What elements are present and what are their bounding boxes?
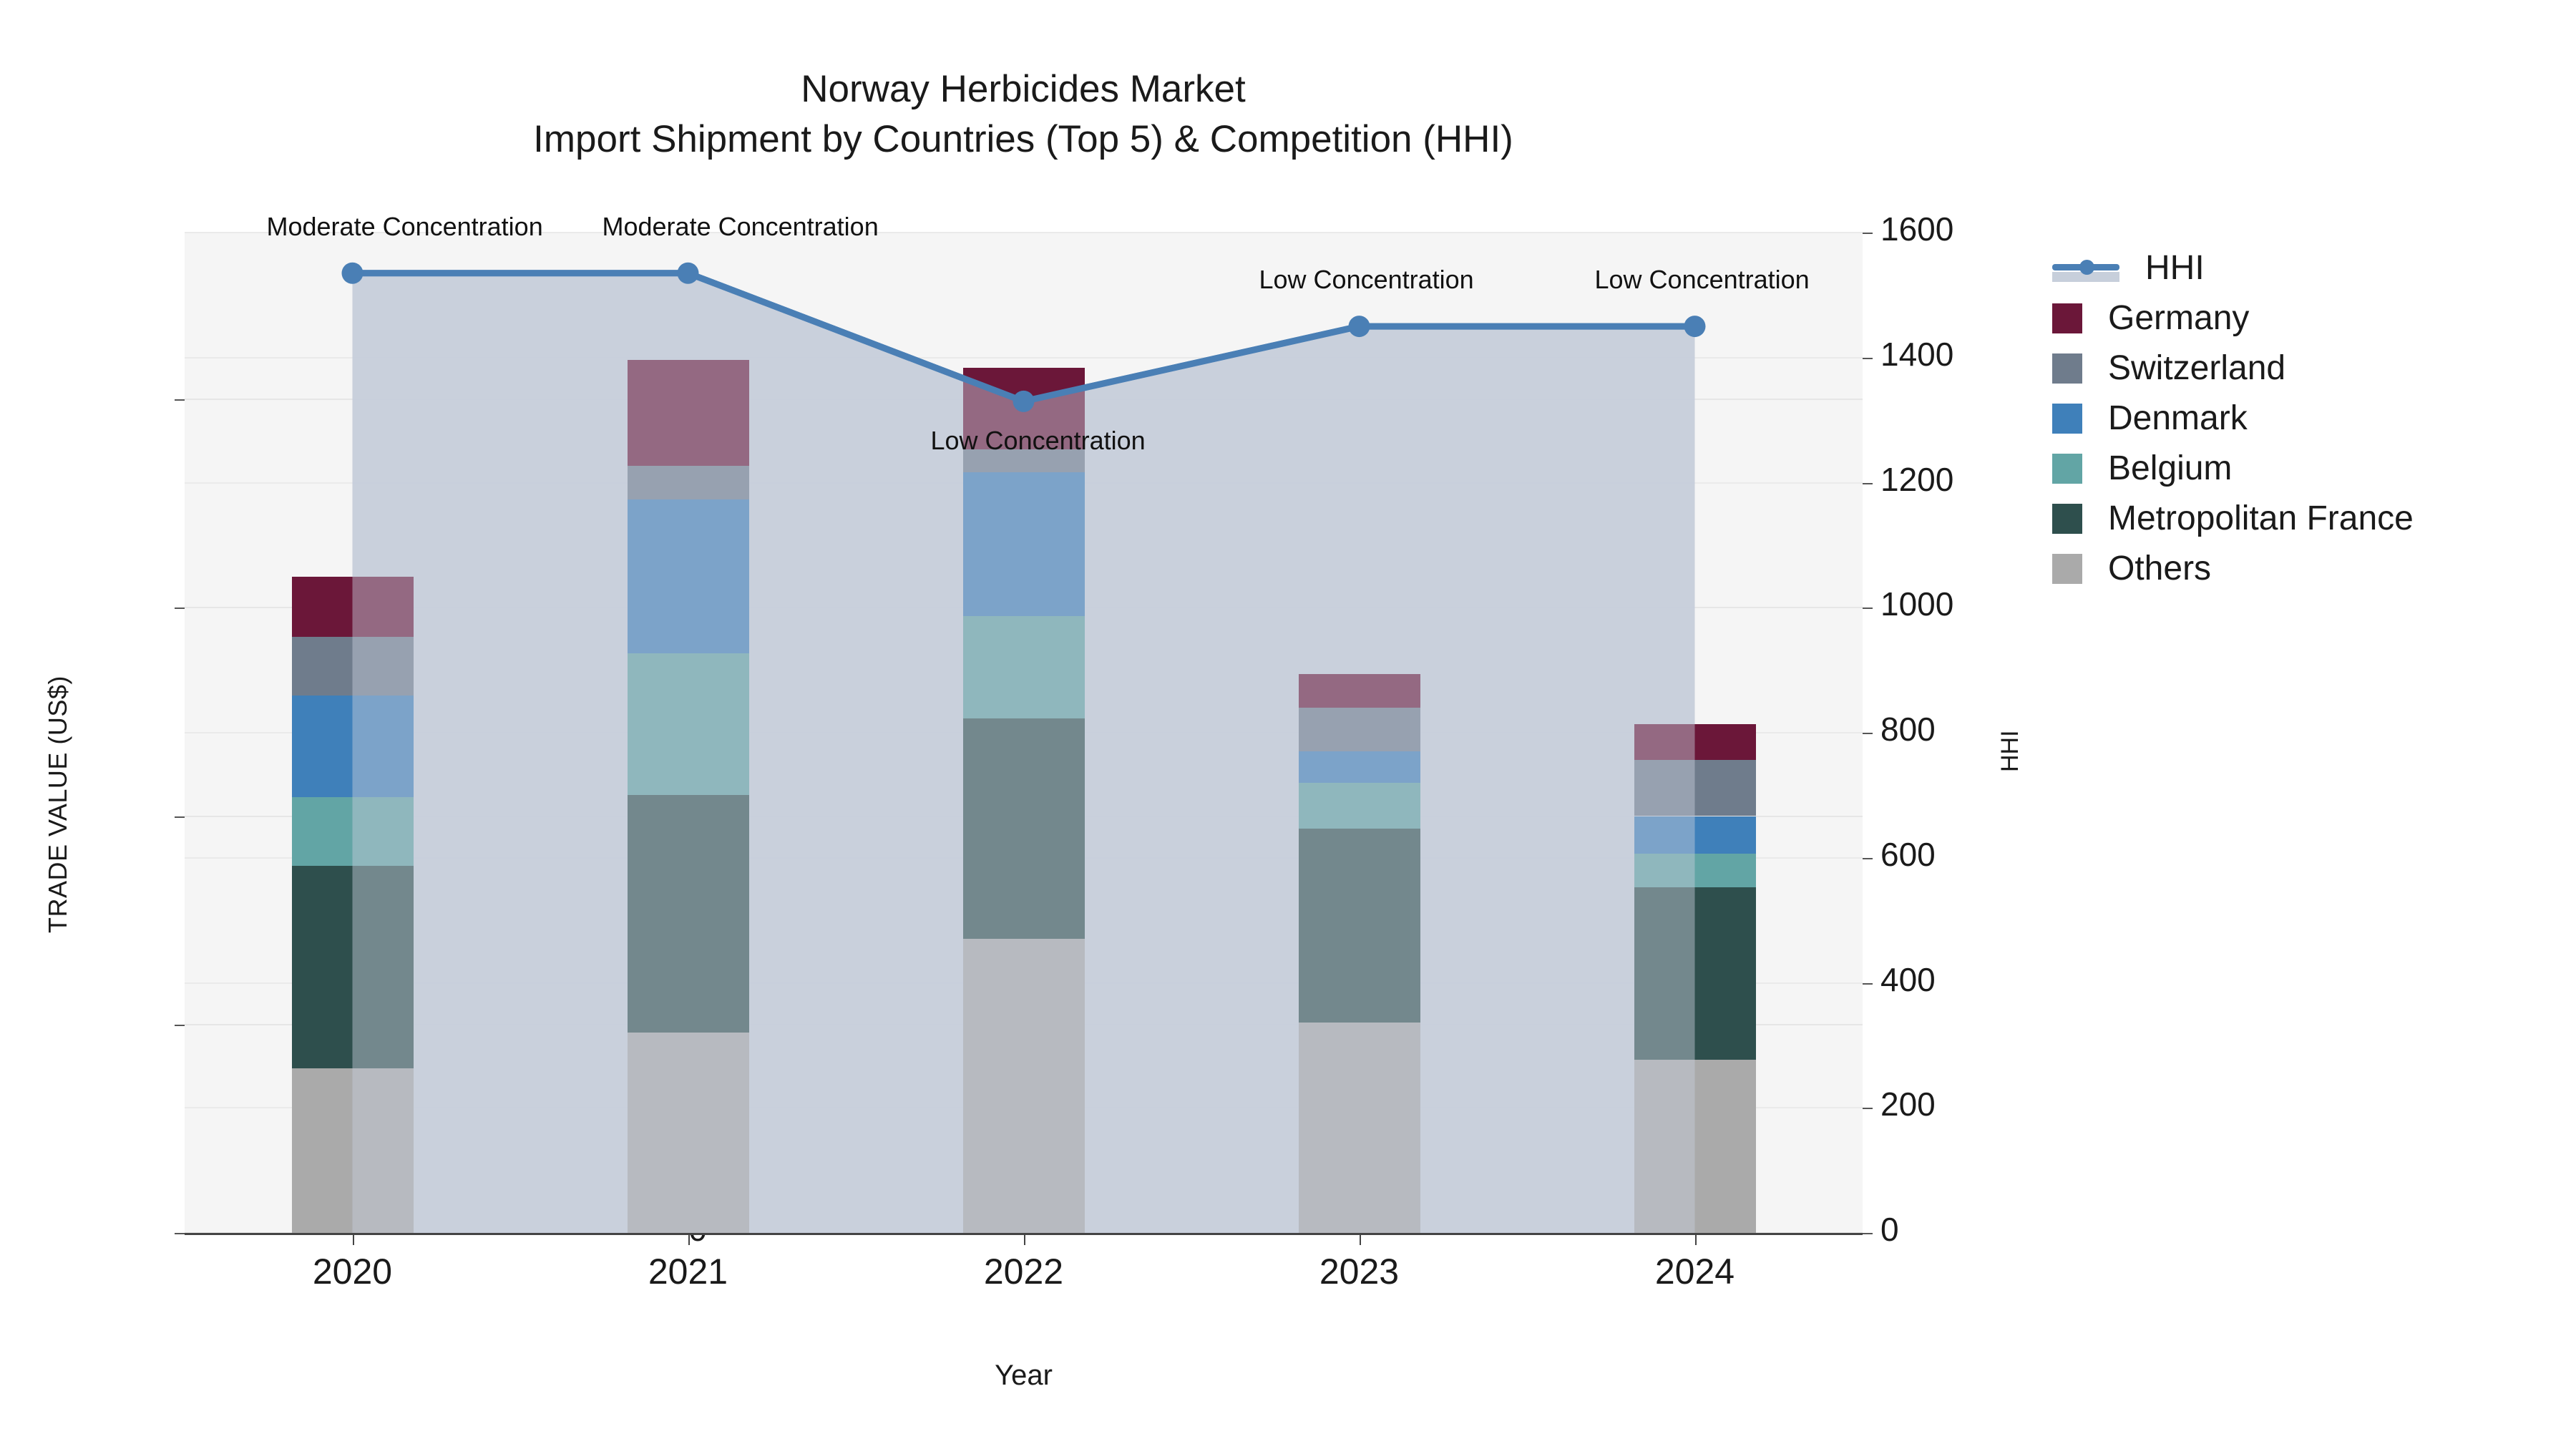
y-axis-right-tick-label: 600 <box>1880 835 1936 874</box>
bar-segment[interactable] <box>1634 816 1756 854</box>
legend-item-label: Germany <box>2108 301 2249 336</box>
legend-item[interactable]: Metropolitan France <box>2052 494 2414 544</box>
y-axis-left-tick <box>175 1233 185 1234</box>
y-axis-right-tick <box>1863 1233 1873 1234</box>
y-axis-right-tick <box>1863 733 1873 734</box>
x-axis-tick <box>688 1235 690 1245</box>
bar-segment[interactable] <box>628 653 749 795</box>
y-axis-right-title: HHI <box>1996 730 2024 772</box>
legend-item[interactable]: Others <box>2052 544 2414 594</box>
bar-segment[interactable] <box>628 466 749 499</box>
hhi-annotation: Low Concentration <box>1259 265 1474 295</box>
legend-dot <box>2079 260 2094 275</box>
legend-item[interactable]: Germany <box>2052 293 2414 343</box>
y-axis-right-tick-label: 1200 <box>1880 460 1953 499</box>
y-axis-right-tick-label: 800 <box>1880 710 1936 748</box>
hhi-annotation: Moderate Concentration <box>267 212 543 242</box>
bar-segment[interactable] <box>292 637 414 696</box>
bar-segment[interactable] <box>292 797 414 866</box>
bar-segment[interactable] <box>963 718 1085 940</box>
x-axis-tick-label: 2020 <box>253 1251 453 1292</box>
bar-segment[interactable] <box>963 616 1085 718</box>
chart-title-line1: Norway Herbicides Market <box>801 68 1245 110</box>
bar-segment[interactable] <box>963 472 1085 616</box>
y-axis-right-tick <box>1863 233 1873 234</box>
legend-color-swatch <box>2052 454 2082 484</box>
hhi-annotation: Low Concentration <box>931 426 1146 456</box>
y-axis-right-tick-label: 400 <box>1880 960 1936 999</box>
hhi-annotation: Low Concentration <box>1595 265 1810 295</box>
bar-segment[interactable] <box>1634 724 1756 760</box>
y-axis-left-tick <box>175 1025 185 1026</box>
bar-segment[interactable] <box>1299 783 1420 829</box>
y-axis-left-title: TRADE VALUE (US$) <box>43 675 73 933</box>
bar-segment[interactable] <box>1634 887 1756 1060</box>
y-axis-left-tick <box>175 399 185 401</box>
legend-line-marker-icon <box>2052 253 2119 283</box>
bar-segment[interactable] <box>1634 760 1756 816</box>
bar-segment[interactable] <box>628 499 749 654</box>
bar-segment[interactable] <box>628 1033 749 1233</box>
legend-color-swatch <box>2052 303 2082 333</box>
y-axis-right-tick-label: 1400 <box>1880 335 1953 374</box>
x-axis-tick-label: 2022 <box>924 1251 1124 1292</box>
bar-segment[interactable] <box>1299 708 1420 751</box>
legend-item-label: Belgium <box>2108 452 2232 486</box>
chart-title: Norway Herbicides Market Import Shipment… <box>0 64 2046 165</box>
y-axis-right-tick-label: 1000 <box>1880 585 1953 623</box>
legend-item[interactable]: Belgium <box>2052 444 2414 494</box>
x-axis-tick-label: 2023 <box>1259 1251 1460 1292</box>
y-axis-right-tick <box>1863 483 1873 484</box>
y-axis-left-tick <box>175 816 185 818</box>
x-axis-tick <box>1695 1235 1697 1245</box>
bar-segment[interactable] <box>628 795 749 1033</box>
legend-item[interactable]: HHI <box>2052 243 2414 293</box>
y-axis-right-tick <box>1863 1108 1873 1109</box>
bar-segment[interactable] <box>1299 751 1420 783</box>
y-axis-left-tick <box>175 608 185 609</box>
bar-segment[interactable] <box>963 939 1085 1233</box>
y-axis-right-tick-label: 1600 <box>1880 210 1953 248</box>
bar-segment[interactable] <box>628 360 749 467</box>
legend-item-label: Switzerland <box>2108 351 2285 386</box>
gridline <box>185 357 1863 358</box>
bar-segment[interactable] <box>1299 1023 1420 1233</box>
legend-color-swatch <box>2052 554 2082 584</box>
chart-title-line2: Import Shipment by Countries (Top 5) & C… <box>0 114 2046 165</box>
bar-segment[interactable] <box>292 577 414 637</box>
x-axis-tick <box>1024 1235 1025 1245</box>
chart-root: Norway Herbicides Market Import Shipment… <box>0 0 2576 1449</box>
legend-item[interactable]: Switzerland <box>2052 343 2414 394</box>
bar-segment[interactable] <box>1634 1060 1756 1233</box>
bar-segment[interactable] <box>292 696 414 798</box>
legend-item-label: Others <box>2108 552 2211 586</box>
y-axis-right-tick <box>1863 983 1873 985</box>
legend-color-swatch <box>2052 353 2082 384</box>
y-axis-right-tick <box>1863 858 1873 859</box>
hhi-annotation: Moderate Concentration <box>602 212 879 242</box>
y-axis-right-tick-label: 200 <box>1880 1085 1936 1123</box>
legend-item-label: HHI <box>2145 251 2205 286</box>
bar-segment[interactable] <box>292 866 414 1068</box>
y-axis-right-tick <box>1863 608 1873 609</box>
chart-legend: HHIGermanySwitzerlandDenmarkBelgiumMetro… <box>2052 243 2414 594</box>
legend-item-label: Metropolitan France <box>2108 502 2414 536</box>
bar-segment[interactable] <box>292 1068 414 1233</box>
legend-color-swatch <box>2052 404 2082 434</box>
legend-item[interactable]: Denmark <box>2052 394 2414 444</box>
bar-segment[interactable] <box>1299 674 1420 708</box>
y-axis-right-tick-label: 0 <box>1880 1210 1899 1249</box>
x-axis-tick-label: 2024 <box>1595 1251 1795 1292</box>
x-axis-tick-label: 2021 <box>588 1251 789 1292</box>
x-axis-title: Year <box>185 1360 1863 1392</box>
x-axis-tick <box>1360 1235 1361 1245</box>
legend-item-label: Denmark <box>2108 401 2248 436</box>
legend-color-swatch <box>2052 504 2082 534</box>
bar-segment[interactable] <box>1299 829 1420 1023</box>
y-axis-right-tick <box>1863 358 1873 359</box>
x-axis-tick <box>353 1235 354 1245</box>
bar-segment[interactable] <box>1634 854 1756 887</box>
